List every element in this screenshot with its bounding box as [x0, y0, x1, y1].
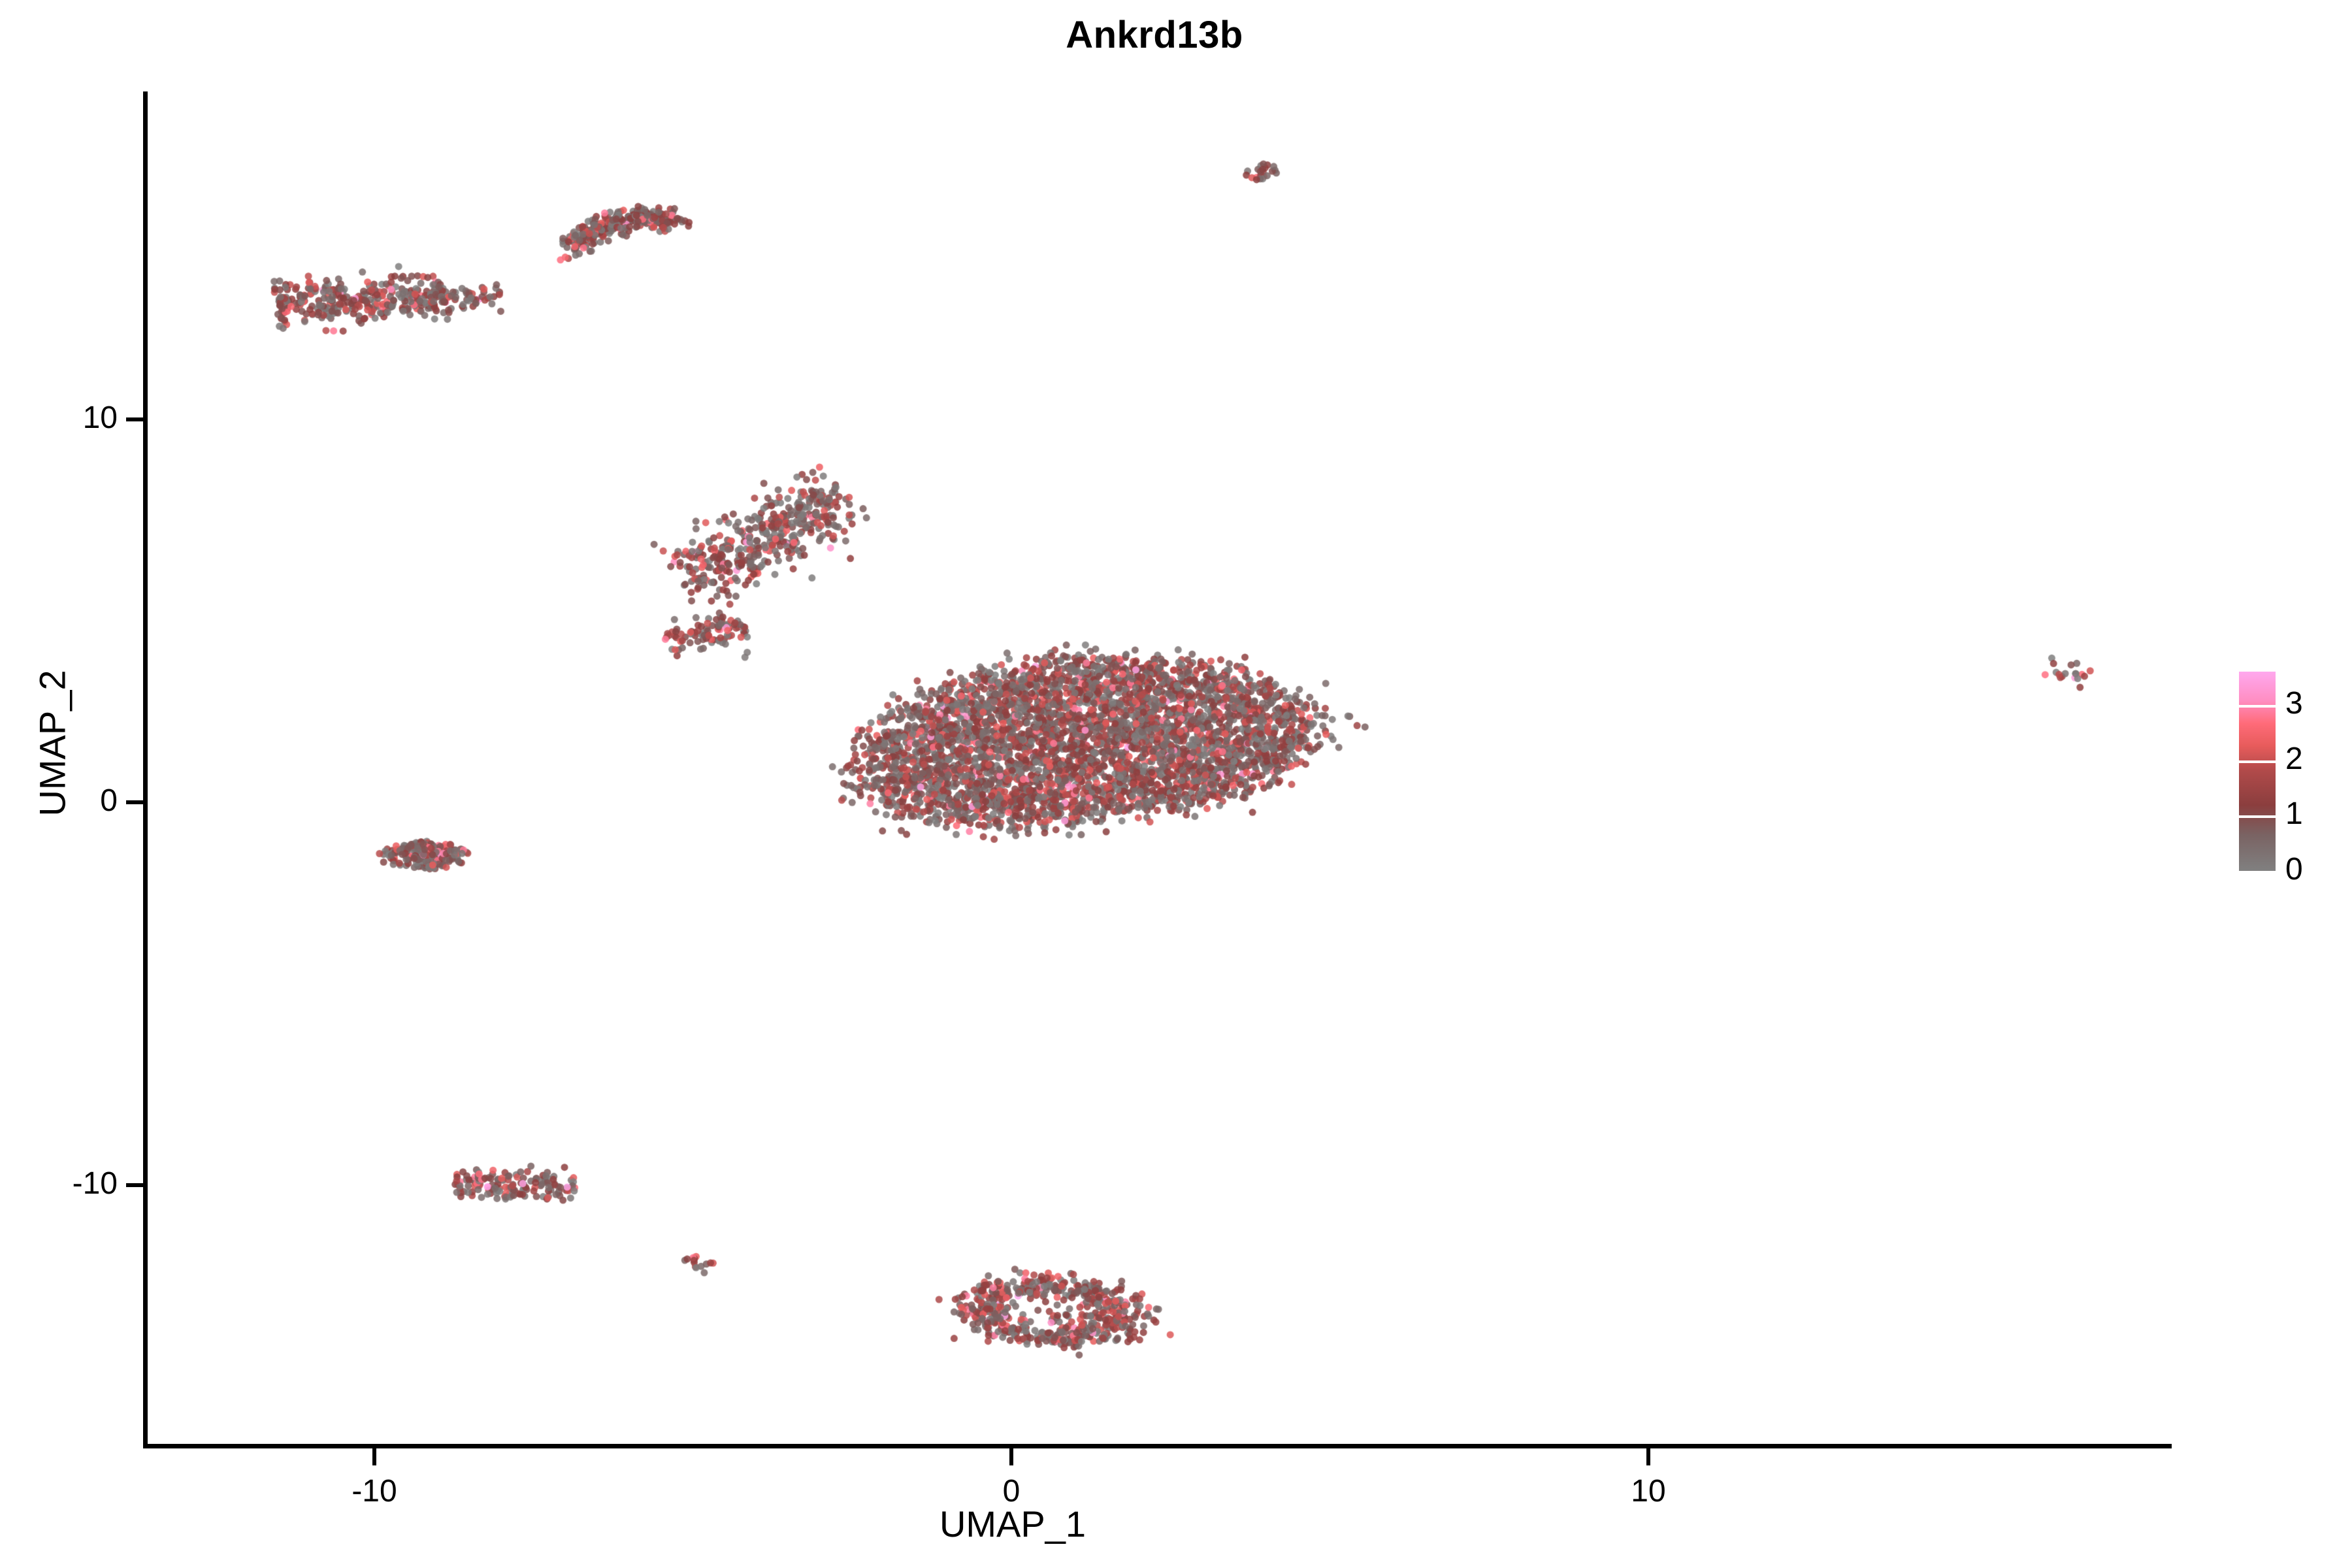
- y-tick-label: -10: [13, 1166, 118, 1201]
- scatter-points: [143, 91, 2172, 1444]
- colorbar-gradient: [2239, 672, 2276, 871]
- x-axis-line: [143, 1444, 2172, 1448]
- x-tick-mark: [372, 1448, 376, 1465]
- colorbar-label: 0: [2285, 854, 2303, 885]
- page-title: Ankrd13b: [0, 13, 2330, 57]
- colorbar-tick: [2239, 815, 2276, 818]
- x-tick-label: 10: [1583, 1473, 1714, 1509]
- colorbar-tick: [2239, 760, 2276, 763]
- colorbar-tick: [2239, 705, 2276, 708]
- colorbar-legend: 3210: [2234, 666, 2345, 882]
- colorbar-label: 2: [2285, 743, 2303, 775]
- y-axis-label: UMAP_2: [31, 613, 74, 874]
- y-tick-label: 10: [13, 400, 118, 436]
- x-tick-mark: [1646, 1448, 1650, 1465]
- colorbar-label: 3: [2285, 688, 2303, 719]
- x-axis-label: UMAP_1: [653, 1503, 1372, 1545]
- scatter-panel: [143, 91, 2172, 1444]
- umap-feature-plot: Ankrd13b 100-10 -10010 UMAP_2 UMAP_1 321…: [0, 0, 2352, 1568]
- y-tick-mark: [126, 800, 143, 804]
- x-tick-mark: [1009, 1448, 1013, 1465]
- x-tick-label: -10: [309, 1473, 440, 1509]
- colorbar-label: 1: [2285, 798, 2303, 830]
- y-tick-mark: [126, 417, 143, 421]
- y-tick-mark: [126, 1183, 143, 1187]
